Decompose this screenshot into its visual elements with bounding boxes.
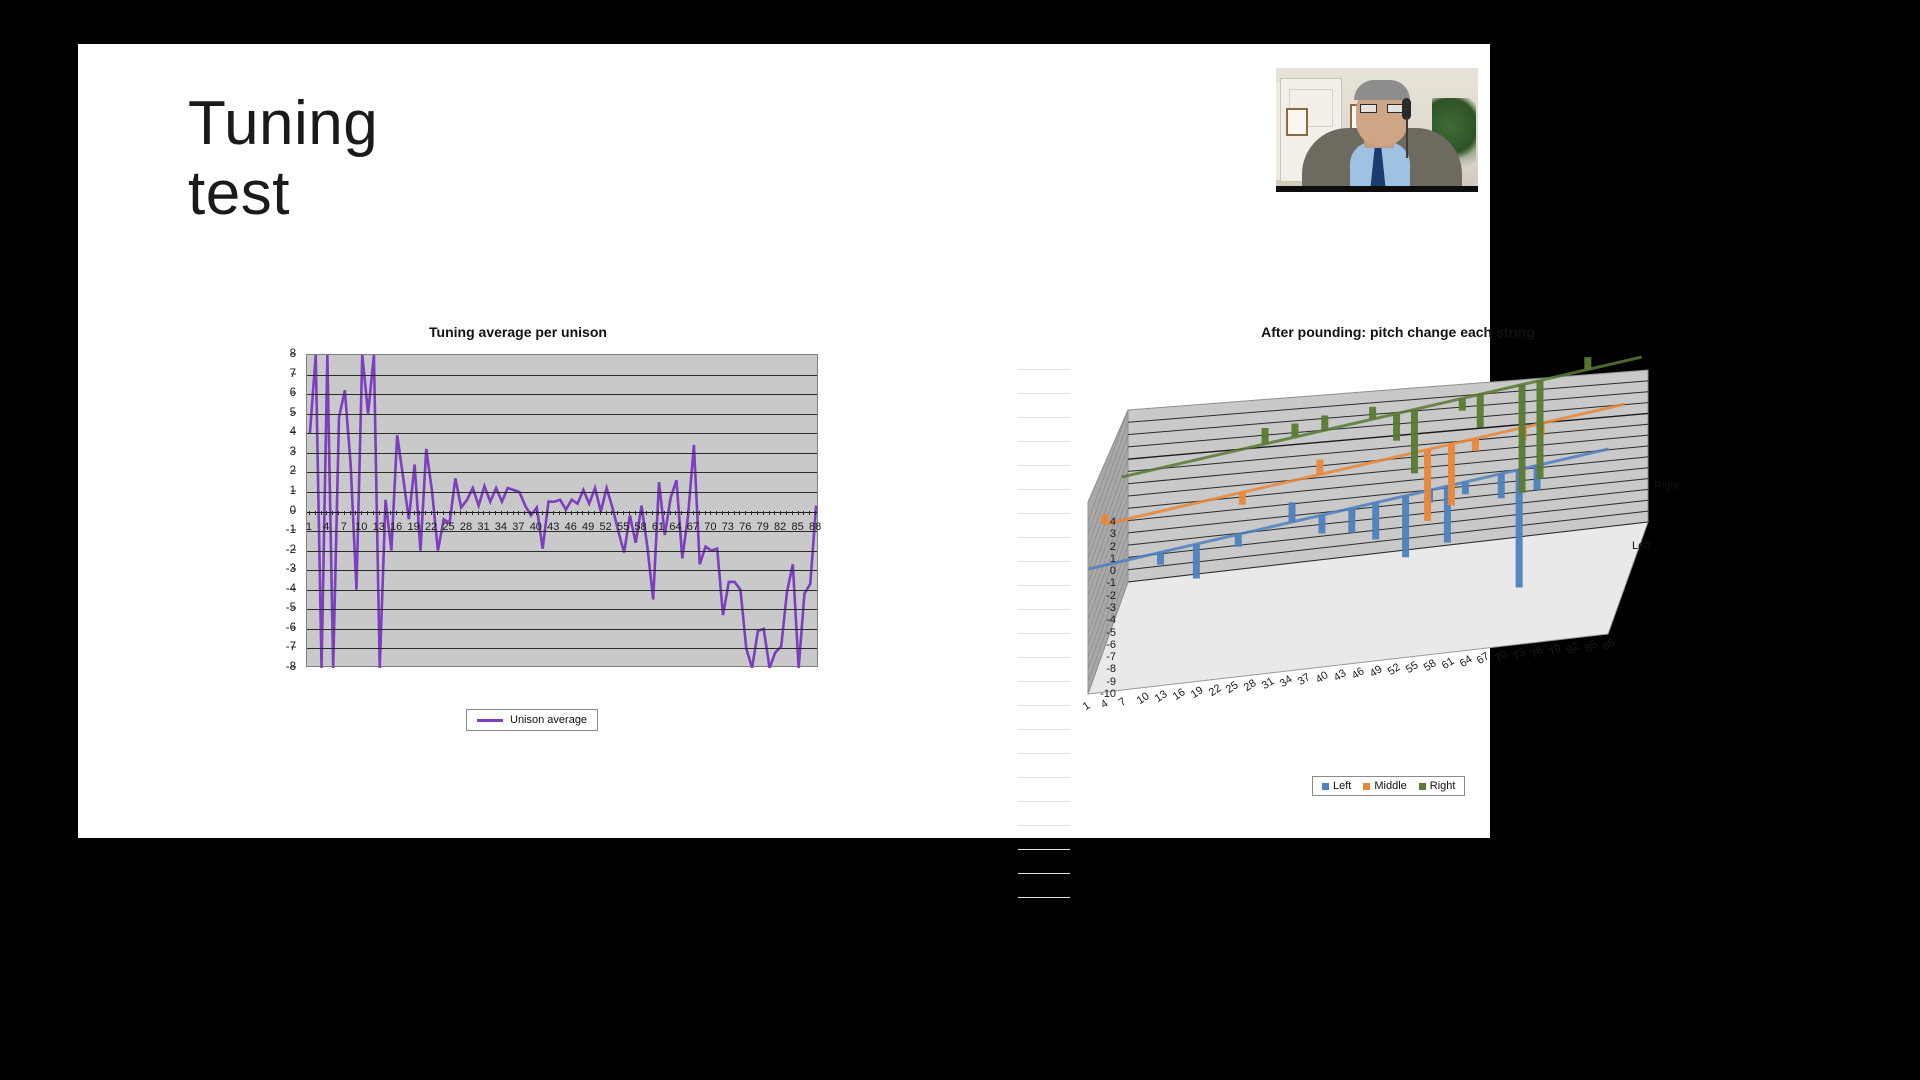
x-tick-mark [798,511,799,515]
data-spike [1262,428,1269,444]
x-tick-label: 52 [600,521,612,533]
x-tick-mark [600,511,601,515]
x-tick-label: 4 [323,521,329,533]
x-tick-label: 13 [373,521,385,533]
x-tick-mark [728,511,729,515]
x-tick-mark [559,511,560,515]
chart-title-right: After pounding: pitch change each string [1068,324,1728,340]
x-tick-mark [367,511,368,515]
gridline [307,551,817,552]
x-tick-mark [542,511,543,515]
decorative-tick [1018,873,1070,874]
y-tick-mark [291,490,296,491]
chart-tuning-average-per-unison: Tuning average per unison 876543210-1-2-… [198,324,838,764]
x-tick-mark [326,511,327,515]
x-tick-label: 70 [704,521,716,533]
y-tick-label: -1 [1106,577,1116,589]
x-tick-label: 16 [390,521,402,533]
plot-area-right-3d: 43210-1-2-3-4-5-6-7-8-9-10 1471013161922… [1068,352,1728,752]
x-tick-label: 40 [530,521,542,533]
x-tick-mark [722,511,723,515]
decorative-tick [1018,681,1070,682]
y-tick-label: 3 [1110,528,1116,540]
x-tick-mark [373,511,374,515]
x-tick-mark [623,511,624,515]
data-spike [1235,534,1242,546]
decorative-tick [1018,417,1070,418]
x-tick-mark [530,511,531,515]
decorative-tick [1018,441,1070,442]
x-axis-labels-left: 1471013161922252831343740434649525558616… [306,521,818,539]
gridline [307,453,817,454]
x-tick-mark [705,511,706,515]
x-tick-mark [344,511,345,515]
x-tick-mark [739,511,740,515]
x-tick-mark [419,511,420,515]
x-tick-label: 25 [442,521,454,533]
data-spike [1291,424,1298,438]
x-tick-mark [553,511,554,515]
y-tick-label: -3 [1106,602,1116,614]
x-tick-label: 1 [306,521,312,533]
decorative-tick [1018,705,1070,706]
x-tick-mark [670,511,671,515]
x-tick-mark [379,511,380,515]
x-tick-mark [629,511,630,515]
data-spike [1316,460,1323,475]
decorative-tick [1018,729,1070,730]
x-tick-mark [635,511,636,515]
gridline [307,375,817,376]
y-tick-label: -5 [1106,627,1116,639]
y-tick-label: 0 [1110,565,1116,577]
decorative-tick [1018,369,1070,370]
x-tick-mark [646,511,647,515]
x-tick-mark [489,511,490,515]
decorative-tick [1018,465,1070,466]
data-spike [1411,409,1418,473]
x-tick-label: 58 [634,521,646,533]
y-tick-mark [291,412,296,413]
gridline [307,629,817,630]
x-tick-mark [577,511,578,515]
chart-title-left: Tuning average per unison [198,324,838,340]
y-tick-mark [291,627,296,628]
decorative-tick [1018,489,1070,490]
gridline [307,472,817,473]
data-spike [1448,444,1455,505]
x-tick-mark [338,511,339,515]
gridline [307,570,817,571]
x-tick-mark [431,511,432,515]
x-tick-mark [460,511,461,515]
data-spike [1462,482,1469,494]
x-tick-mark [734,511,735,515]
x-tick-label: 28 [460,521,472,533]
decorative-tick [1018,561,1070,562]
data-spike [1193,544,1200,578]
glasses-icon [1360,104,1404,113]
data-spike [1372,503,1379,540]
data-spike [1424,450,1431,521]
gridline [307,394,817,395]
data-spike [1239,492,1246,504]
x-tick-mark [501,511,502,515]
x-tick-mark [425,511,426,515]
legend-swatch-left [1322,783,1329,790]
x-tick-label: 31 [477,521,489,533]
y-tick-mark [291,647,296,648]
y-tick-mark [291,393,296,394]
y-tick-mark [291,549,296,550]
legend-item-middle[interactable]: Middle [1363,780,1406,792]
decorative-tick [1018,825,1070,826]
x-tick-mark [652,511,653,515]
y-tick-label: -9 [1106,676,1116,688]
x-tick-label: 55 [617,521,629,533]
video-letterbox [1276,186,1478,192]
headset-mic-cable [1406,118,1408,158]
legend-item-right[interactable]: Right [1419,780,1456,792]
y-tick-mark [291,569,296,570]
x-tick-mark [815,511,816,515]
x-tick-mark [437,511,438,515]
x-tick-mark [518,511,519,515]
y-tick-mark [291,432,296,433]
decorative-tick [1018,849,1070,850]
x-tick-mark [495,511,496,515]
x-tick-mark [443,511,444,515]
x-tick-mark [803,511,804,515]
y-tick-label: -6 [1106,639,1116,651]
x-tick-mark [408,511,409,515]
y-axis-left: 876543210-1-2-3-4-5-6-7-8 [258,354,302,667]
x-tick-mark [699,511,700,515]
data-spike [1459,398,1466,410]
depth-axis-label: Left [1632,540,1650,552]
x-tick-mark [507,511,508,515]
x-tick-mark [757,511,758,515]
y-tick-mark [291,471,296,472]
x-tick-mark [710,511,711,515]
x-tick-label: 73 [722,521,734,533]
x-tick-mark [524,511,525,515]
x-tick-label: 64 [669,521,681,533]
legend-label-left: Left [1333,780,1351,792]
x-tick-label: 79 [757,521,769,533]
y-tick-mark [291,608,296,609]
gridline [307,648,817,649]
x-tick-mark [571,511,572,515]
x-tick-mark [414,511,415,515]
gridline [307,414,817,415]
legend-swatch-middle [1363,783,1370,790]
decorative-tick [1018,513,1070,514]
gridline [307,609,817,610]
x-tick-mark [454,511,455,515]
depth-axis-label: Right [1654,480,1680,492]
data-spike [1477,394,1484,427]
x-tick-mark [547,511,548,515]
x-tick-mark [466,511,467,515]
x-tick-label: 76 [739,521,751,533]
data-spike [1369,407,1376,419]
x-tick-mark [675,511,676,515]
x-tick-mark [350,511,351,515]
y-axis-right: 43210-1-2-3-4-5-6-7-8-9-10 [1076,352,1120,752]
x-tick-mark [396,511,397,515]
legend-swatch-right [1419,783,1426,790]
title-line-1: Tuning [188,89,378,158]
x-tick-mark [582,511,583,515]
x-tick-label: 22 [425,521,437,533]
data-spike [1157,552,1164,564]
x-tick-mark [716,511,717,515]
x-tick-label: 49 [582,521,594,533]
data-spike [1536,381,1543,479]
decorative-tick [1018,609,1070,610]
x-tick-mark [617,511,618,515]
data-spike [1318,515,1325,533]
decorative-tick [1018,753,1070,754]
decorative-tick [1018,537,1070,538]
x-tick-mark [315,511,316,515]
x-tick-mark [774,511,775,515]
data-spike [1321,415,1328,430]
x-tick-mark [664,511,665,515]
x-axis-ticks-left [306,511,818,515]
legend-label-right: Right [1430,780,1456,792]
legend-item-left[interactable]: Left [1322,780,1351,792]
x-tick-mark [792,511,793,515]
y-tick-label: -8 [1106,663,1116,675]
picture-frame [1286,108,1308,136]
decorative-tick-column [1018,369,1070,899]
decorative-tick [1018,393,1070,394]
x-tick-label: 88 [809,521,821,533]
data-spike [1348,508,1355,533]
x-tick-mark [536,511,537,515]
decorative-tick [1018,777,1070,778]
x-tick-mark [472,511,473,515]
x-tick-mark [681,511,682,515]
legend-right[interactable]: Left Middle Right [1312,776,1465,796]
x-tick-mark [402,511,403,515]
decorative-tick [1018,633,1070,634]
x-tick-mark [693,511,694,515]
gridline [307,590,817,591]
x-tick-mark [588,511,589,515]
x-tick-label: 43 [547,521,559,533]
y-tick-label: -2 [1106,590,1116,602]
legend-label-unison-average: Unison average [510,714,587,726]
x-tick-mark [390,511,391,515]
decorative-tick [1018,657,1070,658]
y-tick-label: 1 [1110,553,1116,565]
x-tick-mark [769,511,770,515]
x-tick-label: 67 [687,521,699,533]
x-tick-mark [309,511,310,515]
x-tick-mark [745,511,746,515]
x-tick-mark [641,511,642,515]
x-tick-mark [594,511,595,515]
data-spike [1289,502,1296,522]
x-tick-mark [687,511,688,515]
gridline [307,492,817,493]
y-tick-mark [291,588,296,589]
presenter-video-thumbnail[interactable] [1274,66,1480,194]
x-tick-mark [385,511,386,515]
chart-after-pounding-pitch-change: After pounding: pitch change each string… [1068,324,1728,794]
x-tick-mark [611,511,612,515]
x-tick-mark [483,511,484,515]
decorative-tick [1018,801,1070,802]
legend-label-middle: Middle [1374,780,1406,792]
x-tick-label: 85 [792,521,804,533]
y-tick-label: 4 [1110,516,1116,528]
y-tick-label: 2 [1110,541,1116,553]
y-tick-mark [291,510,296,511]
data-spike [1393,414,1400,441]
data-spike [1498,474,1505,499]
data-spike [1402,496,1409,557]
presenter-hair [1354,80,1410,100]
x-tick-mark [780,511,781,515]
x-tick-mark [332,511,333,515]
headset-icon [1402,98,1411,120]
x-tick-mark [321,511,322,515]
x-tick-mark [606,511,607,515]
x-tick-mark [565,511,566,515]
x-tick-label: 82 [774,521,786,533]
decorative-tick [1018,897,1070,898]
x-tick-mark [751,511,752,515]
x-tick-mark [786,511,787,515]
x-tick-label: 46 [565,521,577,533]
x-tick-mark [513,511,514,515]
legend-left[interactable]: Unison average [466,709,598,731]
data-spike [1584,357,1591,369]
x-tick-label: 19 [408,521,420,533]
y-tick-mark [291,451,296,452]
x-tick-label: 10 [355,521,367,533]
presentation-slide: Tuning test Tuning average per unison 87… [78,44,1490,838]
y-tick-mark [291,530,296,531]
x-tick-mark [449,511,450,515]
x-tick-mark [658,511,659,515]
screen: Tuning test Tuning average per unison 87… [0,0,1920,1080]
y-tick-mark [291,354,296,355]
x-tick-label: 34 [495,521,507,533]
gridline [307,433,817,434]
x-tick-mark [478,511,479,515]
data-spike [1472,439,1479,451]
data-spike [1519,385,1526,493]
y-tick-mark [291,667,296,668]
x-tick-mark [355,511,356,515]
y-tick-label: -7 [1106,651,1116,663]
x-tick-mark [809,511,810,515]
legend-swatch-unison-average [477,719,503,722]
three-d-area-series [1068,352,1728,752]
y-tick-label: -4 [1106,614,1116,626]
title-line-2: test [188,159,788,229]
page-title: Tuning test [188,89,788,229]
x-tick-label: 7 [341,521,347,533]
y-tick-mark [291,373,296,374]
x-tick-mark [361,511,362,515]
x-tick-mark [763,511,764,515]
x-tick-label: 37 [512,521,524,533]
decorative-tick [1018,585,1070,586]
x-tick-label: 61 [652,521,664,533]
